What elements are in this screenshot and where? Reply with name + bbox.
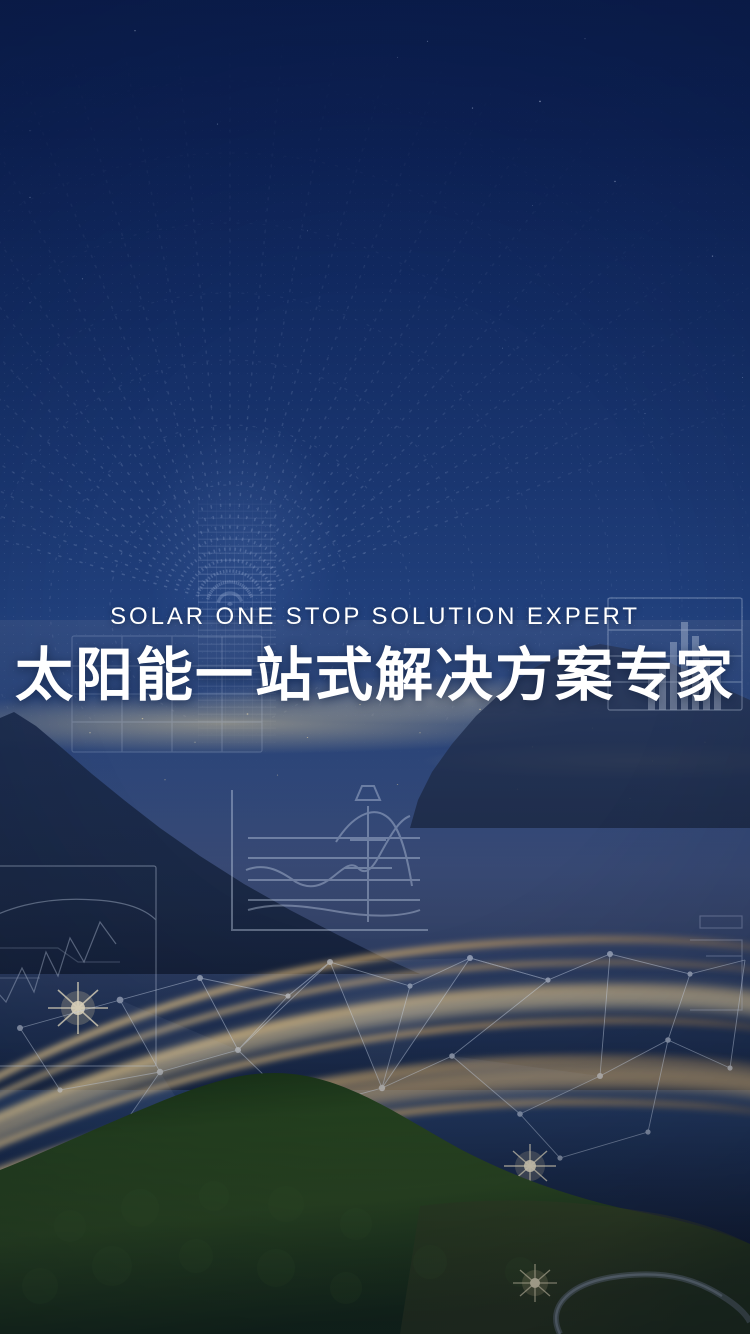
hud-bracket-left: [0, 948, 120, 978]
hud-bracket-right: [690, 916, 742, 1010]
network-mesh-overlay: [0, 900, 750, 1180]
golden-light-trails: [0, 880, 750, 1334]
transmission-tower-icon: [344, 786, 392, 922]
hero-banner: SOLAR ONE STOP SOLUTION EXPERT 太阳能一站式解决方…: [0, 0, 750, 1334]
line-chart-panel: [232, 790, 428, 930]
hero-copy: SOLAR ONE STOP SOLUTION EXPERT 太阳能一站式解决方…: [0, 600, 750, 712]
green-foreground-hill: [0, 1000, 750, 1334]
spark-chart-panel: [0, 866, 156, 1066]
hero-eyebrow: SOLAR ONE STOP SOLUTION EXPERT: [0, 600, 750, 634]
hero-headline: 太阳能一站式解决方案专家: [0, 640, 750, 712]
